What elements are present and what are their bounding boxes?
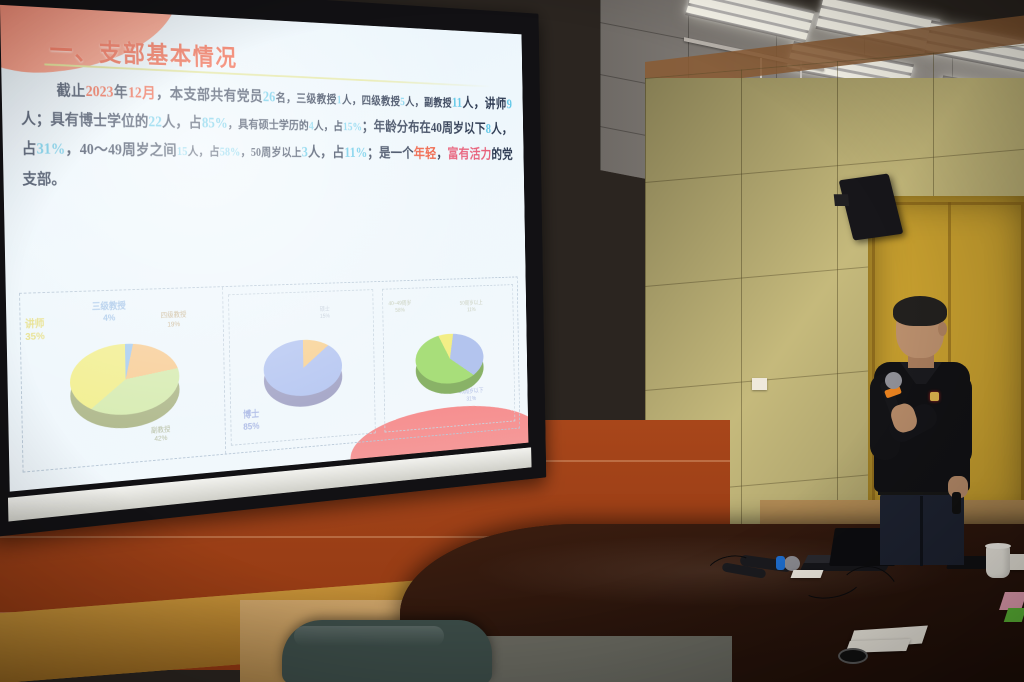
text-highlight-vitality: 富有活力 <box>447 147 491 162</box>
pie1-label-prof3: 三级教授 4% <box>92 301 126 325</box>
pie2-label-master: 硕士 15% <box>320 306 330 321</box>
handheld-microphone-head <box>784 556 800 571</box>
pie3-label-o50-value: 11% <box>460 307 483 315</box>
conference-room-photo: 一、支部基本情况 截止2023年12月，本支部共有党员26名，三级教授1人，四级… <box>0 0 1024 682</box>
text-s14: ，50周岁以上 <box>240 146 302 159</box>
text-p-u40: 31% <box>36 141 65 158</box>
text-n-phd: 22 <box>148 114 162 130</box>
pie1-graphic <box>70 341 181 418</box>
paper-cup-rim <box>985 543 1011 549</box>
pie1-label-lecturer-text: 讲师 <box>25 318 45 332</box>
text-lead: 截止 <box>56 82 86 99</box>
presenter-held-object <box>952 492 961 514</box>
slide-body-text: 截止2023年12月，本支部共有党员26名，三级教授1人，四级教授5人，副教授1… <box>20 75 513 195</box>
text-s2: 名，三级教授 <box>275 91 337 105</box>
text-s8: ，具有硕士学历的 <box>228 118 309 132</box>
pie1-label-prof4-text: 四级教授 <box>161 310 187 320</box>
text-s1: ，本支部共有党员 <box>156 86 263 105</box>
presenter-ear <box>938 322 947 336</box>
text-s7: 人，占 <box>162 114 202 131</box>
pie-chart-titles: 三级教授 4% 四级教授 19% 副教授 42% 讲师 35% <box>20 287 226 471</box>
text-year: 2023 <box>86 83 114 100</box>
pie1-label-assoc: 副教授 42% <box>151 425 171 444</box>
text-s3: 人，四级教授 <box>341 94 400 108</box>
pie1-label-prof4-value: 19% <box>161 319 187 329</box>
presenter <box>866 300 986 560</box>
pie1-label-prof3-text: 三级教授 <box>92 301 126 314</box>
presenter-leg-split <box>920 496 923 566</box>
pie3-graphic <box>415 332 484 386</box>
text-s12: ，40～49周岁之间 <box>65 142 177 160</box>
pie-chart-age: 40~49周岁 58% 50周岁以上 11% 40周岁以下 31% <box>382 284 515 432</box>
speaker-mount <box>834 194 849 206</box>
text-s15: 人，占 <box>308 145 345 161</box>
text-s6: 人；具有博士学位的 <box>21 111 149 130</box>
text-s4: 人，副教授 <box>405 96 452 110</box>
text-s16: ；是一个 <box>367 146 414 161</box>
text-highlight-young: 年轻 <box>414 147 437 162</box>
pie-chart-degrees: 硕士 15% 博士 85% <box>228 289 376 446</box>
name-card-green <box>1004 608 1024 622</box>
text-month: 12 <box>128 85 142 102</box>
pie3-label-o50: 50周岁以上 11% <box>460 300 483 315</box>
pie2-label-phd: 博士 85% <box>243 410 260 434</box>
party-emblem-pin-icon <box>930 392 939 401</box>
wall-socket-plate <box>752 378 767 390</box>
paper-slip-1 <box>791 570 824 578</box>
pie2-label-master-value: 15% <box>320 313 330 321</box>
projection-screen: 一、支部基本情况 截止2023年12月，本支部共有党员26名，三级教授1人，四级… <box>0 0 546 537</box>
text-n-4049: 15 <box>177 145 188 158</box>
pie1-label-prof3-value: 4% <box>92 312 126 325</box>
text-s17: ， <box>436 147 447 162</box>
cable-grommet <box>838 648 868 664</box>
table-glass-insert <box>452 636 732 682</box>
slide-title: 一、支部基本情况 <box>49 31 238 73</box>
foreground-chair <box>282 620 492 682</box>
chair-highlight <box>294 626 444 646</box>
text-s5: 人，讲师 <box>462 96 507 112</box>
text-p-4049: 58% <box>220 146 241 159</box>
pie1-label-assoc-value: 42% <box>151 433 171 443</box>
text-p-phd: 85% <box>202 115 228 131</box>
text-s9: 人，占 <box>314 120 344 133</box>
text-n-assoc: 11 <box>452 95 463 110</box>
pie2-label-phd-value: 85% <box>243 421 259 434</box>
text-s13: 人，占 <box>187 145 220 158</box>
paper-cup <box>986 546 1010 578</box>
text-p-master: 15% <box>343 121 362 134</box>
presenter-hair <box>893 296 947 326</box>
text-s10: ；年龄分布在40周岁以下 <box>362 119 486 136</box>
pie3-label-4049: 40~49周岁 58% <box>388 300 411 315</box>
pie2-graphic <box>263 338 342 399</box>
pie1-label-lecturer-value: 35% <box>25 331 45 345</box>
pie3-label-4049-value: 58% <box>388 307 411 315</box>
presentation-slide: 一、支部基本情况 截止2023年12月，本支部共有党员26名，三级教授1人，四级… <box>0 5 528 492</box>
pie1-label-lecturer: 讲师 35% <box>25 318 45 345</box>
pie1-label-prof4: 四级教授 19% <box>161 310 187 329</box>
text-year-unit: 年 <box>113 84 128 101</box>
microphone-blue-band <box>776 556 785 570</box>
text-p-o50: 11% <box>344 146 367 161</box>
text-month-unit: 月 <box>142 85 157 102</box>
text-n-members: 26 <box>263 89 276 105</box>
text-n-lecturer: 9 <box>507 97 512 111</box>
